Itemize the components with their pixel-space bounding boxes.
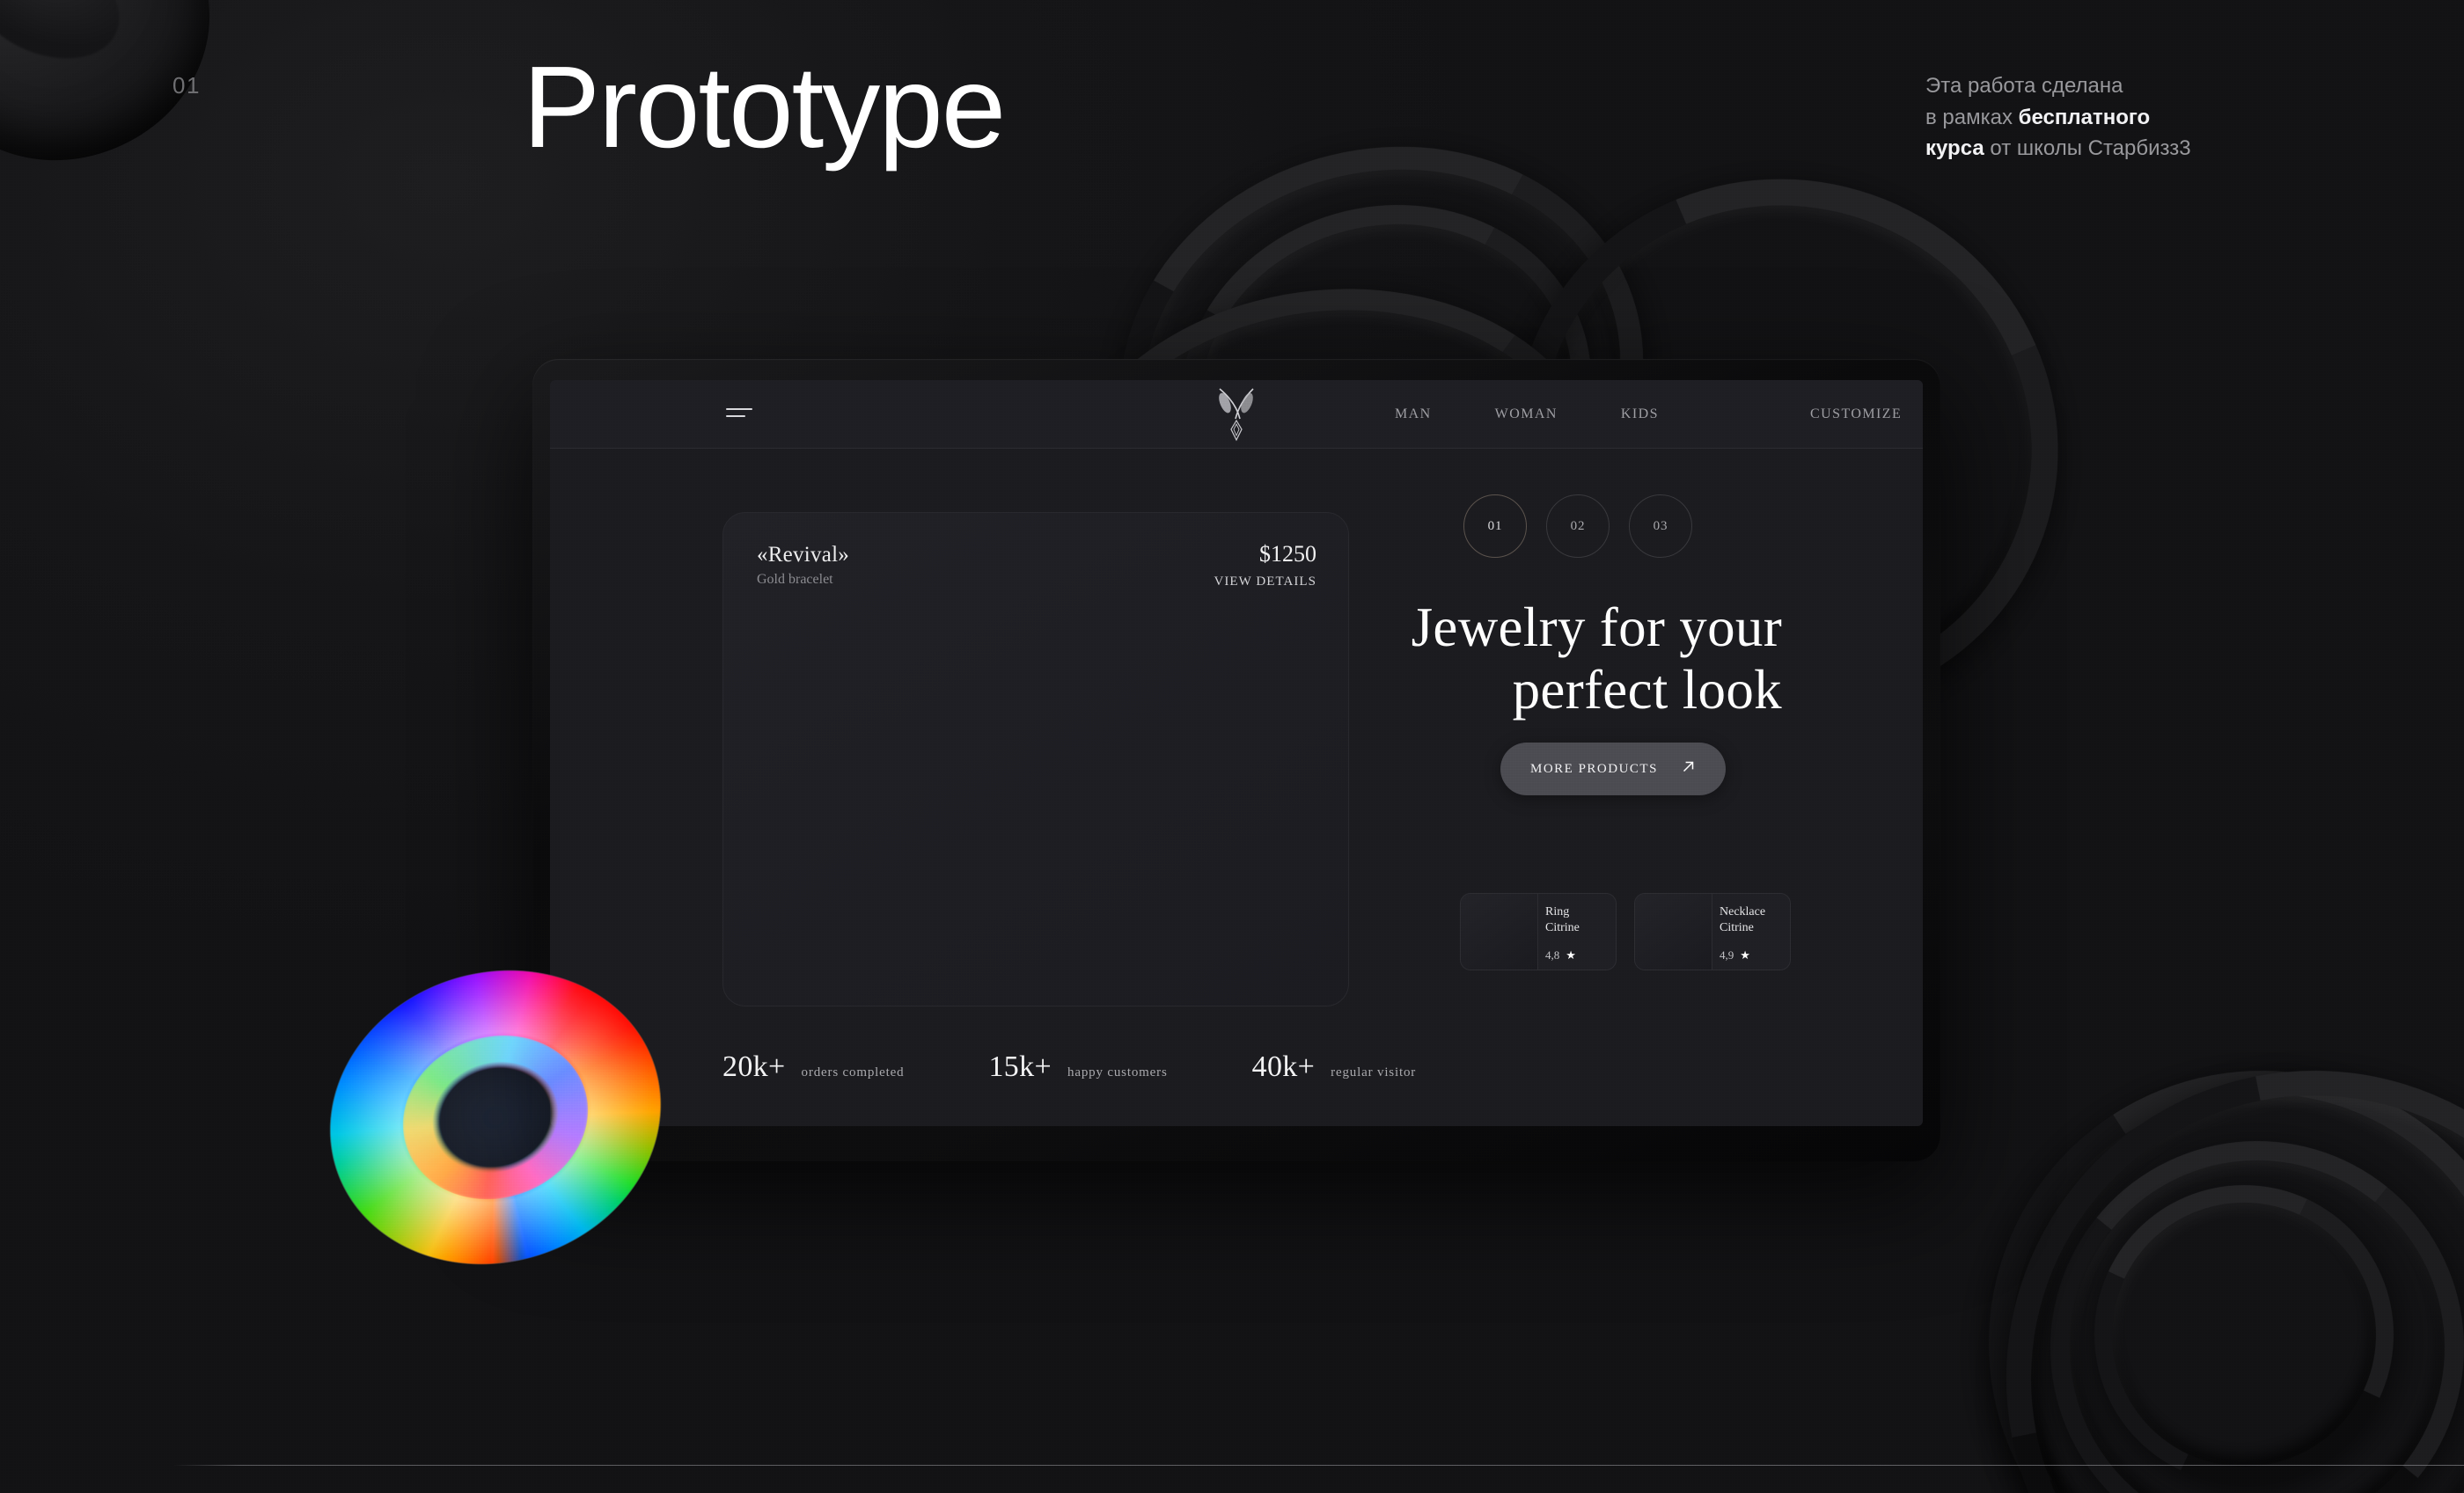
stat-visitors: 40k+ regular visitor — [1252, 1050, 1416, 1084]
mini-product-name-line-2: Citrine — [1545, 920, 1580, 936]
credit-line-2-plain: в рамках — [1925, 106, 2019, 129]
site-navbar: MAN WOMAN KIDS — [550, 380, 1923, 449]
star-icon: ★ — [1566, 948, 1576, 962]
stat-number: 20k+ — [722, 1050, 786, 1084]
pagination-dot-03[interactable]: 03 — [1629, 494, 1692, 558]
tablet-device-mockup: MAN WOMAN KIDS — [532, 359, 1940, 1161]
arrow-up-right-icon — [1681, 759, 1696, 779]
stat-number: 40k+ — [1252, 1050, 1316, 1084]
brand-logo-icon[interactable] — [1211, 384, 1262, 445]
product-title: «Revival» — [757, 543, 849, 567]
decor-tubes-top — [1100, 26, 1936, 396]
mini-product-rating-value: 4,8 — [1545, 948, 1559, 962]
mini-product-rating: 4,9 ★ — [1720, 948, 1750, 962]
stat-number: 15k+ — [988, 1050, 1052, 1084]
mini-product-thumbnail — [1461, 894, 1538, 970]
stat-customers: 15k+ happy customers — [988, 1050, 1167, 1084]
credit-line-3: курса от школы Старбизз3 — [1925, 133, 2242, 165]
stat-label: regular visitor — [1331, 1065, 1416, 1080]
related-products-list: Ring Citrine 4,8 ★ Necklace Citrine — [1460, 893, 1791, 970]
stat-label: happy customers — [1067, 1065, 1168, 1080]
more-products-button[interactable]: MORE PRODUCTS — [1500, 743, 1726, 795]
slide-pagination: 01 02 03 — [1463, 494, 1692, 558]
mini-product-name-line-1: Ring — [1545, 904, 1580, 920]
mini-product-name-line-1: Necklace — [1720, 904, 1765, 920]
hero-section: «Revival» Gold bracelet $1250 VIEW DETAI… — [550, 449, 1923, 1126]
nav-link-kids[interactable]: KIDS — [1621, 406, 1659, 422]
pagination-dot-01[interactable]: 01 — [1463, 494, 1527, 558]
mini-product-name: Necklace Citrine — [1720, 904, 1765, 935]
bottom-divider — [172, 1465, 2464, 1466]
stat-orders: 20k+ orders completed — [722, 1050, 904, 1084]
star-icon: ★ — [1740, 948, 1750, 962]
pagination-dot-02[interactable]: 02 — [1546, 494, 1610, 558]
credit-line-1: Эта работа сделана — [1925, 70, 2242, 102]
view-details-link[interactable]: VIEW DETAILS — [1214, 575, 1316, 589]
featured-product-card[interactable]: «Revival» Gold bracelet $1250 VIEW DETAI… — [722, 512, 1349, 1006]
credit-line-3-plain: от школы Старбизз3 — [1984, 136, 2191, 160]
hamburger-menu-icon[interactable] — [726, 408, 752, 421]
nav-links-left: MAN WOMAN KIDS — [1395, 406, 1659, 422]
more-products-label: MORE PRODUCTS — [1530, 762, 1658, 777]
decor-tubes-bottom-right — [1901, 1106, 2464, 1493]
tablet-screen: MAN WOMAN KIDS — [550, 380, 1923, 1126]
stat-label: orders completed — [802, 1065, 905, 1080]
mini-product-card-necklace[interactable]: Necklace Citrine 4,9 ★ — [1634, 893, 1791, 970]
credit-line-3-bold: курса — [1925, 136, 1984, 160]
poster-canvas: 01 Prototype Эта работа сделана в рамках… — [0, 0, 2464, 1493]
hero-headline: Jewelry for your perfect look — [1166, 596, 1782, 721]
mini-product-name-line-2: Citrine — [1720, 920, 1765, 936]
section-number: 01 — [172, 72, 201, 99]
nav-link-woman[interactable]: WOMAN — [1495, 406, 1558, 422]
mini-product-thumbnail — [1635, 894, 1712, 970]
nav-link-man[interactable]: MAN — [1395, 406, 1432, 422]
product-price: $1250 — [1259, 541, 1316, 567]
hero-headline-line-2: perfect look — [1166, 659, 1782, 721]
mini-product-rating-value: 4,9 — [1720, 948, 1734, 962]
mini-product-rating: 4,8 ★ — [1545, 948, 1576, 962]
hero-headline-line-1: Jewelry for your — [1166, 596, 1782, 659]
mini-product-name: Ring Citrine — [1545, 904, 1580, 935]
credit-line-2: в рамках бесплатного — [1925, 102, 2242, 134]
mini-product-card-ring[interactable]: Ring Citrine 4,8 ★ — [1460, 893, 1617, 970]
nav-link-customize[interactable]: CUSTOMIZE — [1810, 406, 1902, 422]
product-subtitle: Gold bracelet — [757, 572, 833, 588]
page-title: Prototype — [523, 49, 1004, 165]
credit-line-2-bold: бесплатного — [2019, 106, 2151, 129]
credit-note: Эта работа сделана в рамках бесплатного … — [1925, 70, 2242, 165]
stats-row: 20k+ orders completed 15k+ happy custome… — [722, 1050, 1416, 1084]
nav-links-right: CUSTOMIZE SALE MORE — [1810, 406, 1923, 422]
